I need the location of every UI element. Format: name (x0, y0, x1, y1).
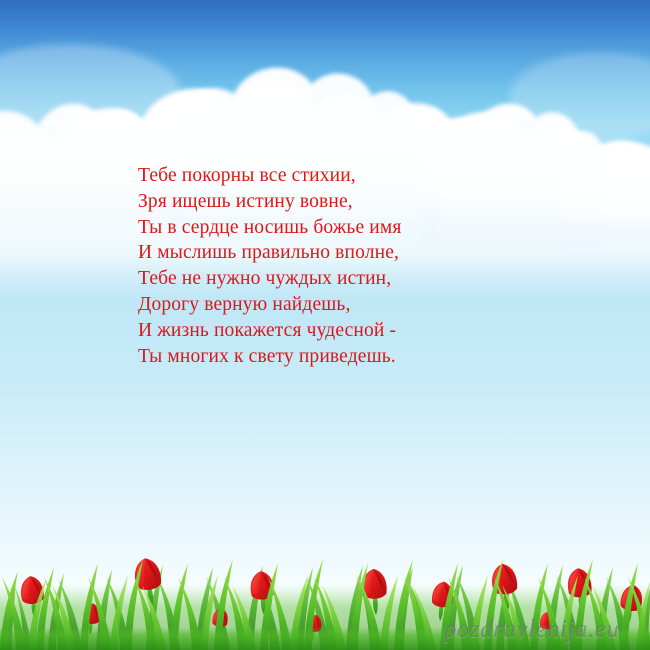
poem-line: Тебе покорны все стихии, (138, 163, 538, 189)
tulip (430, 581, 455, 623)
poem-line: Дорогу верную найдешь, (138, 292, 538, 318)
tulip (618, 583, 645, 626)
grass-and-tulips-illustration (0, 515, 650, 650)
tulip (210, 607, 229, 638)
tulip (132, 556, 164, 608)
tulip (249, 570, 275, 615)
sky-haze-glow-right (510, 52, 650, 140)
grass-layer-front (0, 559, 650, 650)
poem-line: Ты в сердце носишь божье имя (138, 215, 538, 241)
site-watermark: pozdravlenija.eu (444, 616, 619, 644)
poem-line: И мыслишь правильно вполне, (138, 240, 538, 266)
tulip (566, 567, 593, 614)
tulip (305, 614, 323, 642)
turf-base (0, 627, 650, 650)
tulip (362, 568, 389, 615)
greeting-card: Тебе покорны все стихии, Зря ищешь истин… (0, 0, 650, 650)
tulip-group (19, 556, 644, 642)
tulip (82, 603, 101, 636)
poem-line: Зря ищешь истину вовне, (138, 189, 538, 215)
poem-line: И жизнь покажется чудесной - (138, 318, 538, 344)
poem-text: Тебе покорны все стихии, Зря ищешь истин… (138, 163, 538, 369)
poem-line: Ты многих к свету приведешь. (138, 344, 538, 370)
tulip (490, 562, 520, 612)
grass-layer-back (4, 565, 650, 650)
sky-haze-glow (0, 44, 180, 140)
tulip (19, 575, 46, 620)
cloud-right (560, 151, 650, 251)
tulip (539, 611, 555, 639)
poem-line: Тебе не нужно чуждых истин, (138, 266, 538, 292)
